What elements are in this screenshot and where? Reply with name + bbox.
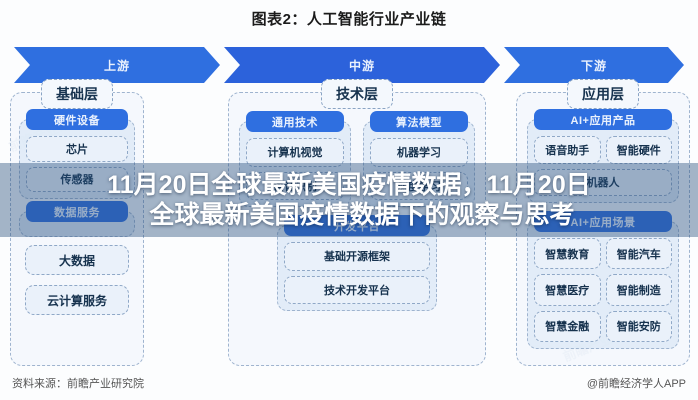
chain-stage-midstream[interactable]: 中游 [224,47,500,83]
group-body-development-platform: 基础开源框架 技术开发平台 [284,242,430,304]
group-development-platform: 开发平台 基础开源框架 技术开发平台 [277,225,437,311]
item-chip[interactable]: 技术开发平台 [284,276,430,305]
chain-stage-label: 中游 [349,57,375,74]
group-header-ai-products: AI+应用产品 [534,109,672,130]
footer: 资料来源：前瞻产业研究院 @前瞻经济学人APP [0,375,698,391]
brand-credit: @前瞻经济学人APP [587,375,686,391]
item-chip[interactable]: 智能硬件 [606,136,673,164]
chain-stage-upstream[interactable]: 上游 [14,47,220,83]
item-chip[interactable]: 智能安防 [606,311,673,342]
chart-title: 图表2：人工智能行业产业链 [0,8,698,29]
value-chain-bar: 上游 中游 下游 [14,47,684,83]
item-chip[interactable]: 大数据 [25,245,129,275]
layer-label-application: 应用层 [567,79,639,109]
item-chip[interactable]: 语音助手 [534,136,601,164]
item-chip[interactable]: 智能汽车 [606,238,673,269]
group-header-algorithm-model: 算法模型 [370,111,468,132]
item-chip[interactable]: 智能制造 [606,274,673,305]
item-chip[interactable]: 智慧教育 [534,238,601,269]
group-body-ai-scenarios: 智慧教育 智能汽车 智慧医疗 智能制造 智慧金融 智能安防 [534,238,672,342]
layer-label-technology: 技术层 [321,79,393,109]
item-chip[interactable]: 云计算服务 [25,285,129,315]
diagram-canvas: 前瞻产业研究院 前瞻产业研究院 前瞻产业研究院 图表2：人工智能行业产业链 上游… [0,0,698,400]
item-chip[interactable]: 基础开源框架 [284,242,430,271]
item-chip[interactable]: 芯片 [26,136,128,162]
group-header-hardware: 硬件设备 [26,109,128,130]
item-chip[interactable]: 智慧金融 [534,311,601,342]
chain-stage-label: 下游 [581,57,607,74]
chain-stage-label: 上游 [104,57,130,74]
chain-stage-downstream[interactable]: 下游 [504,47,684,83]
group-ai-scenarios: AI+应用场景 智慧教育 智能汽车 智慧医疗 智能制造 智慧金融 智能安防 [527,221,679,349]
group-header-general-technology: 通用技术 [246,111,344,132]
source-note: 资料来源：前瞻产业研究院 [12,375,144,391]
headline-overlay-band [0,163,698,237]
item-chip[interactable]: 智慧医疗 [534,274,601,305]
layer-label-foundation: 基础层 [41,79,113,109]
